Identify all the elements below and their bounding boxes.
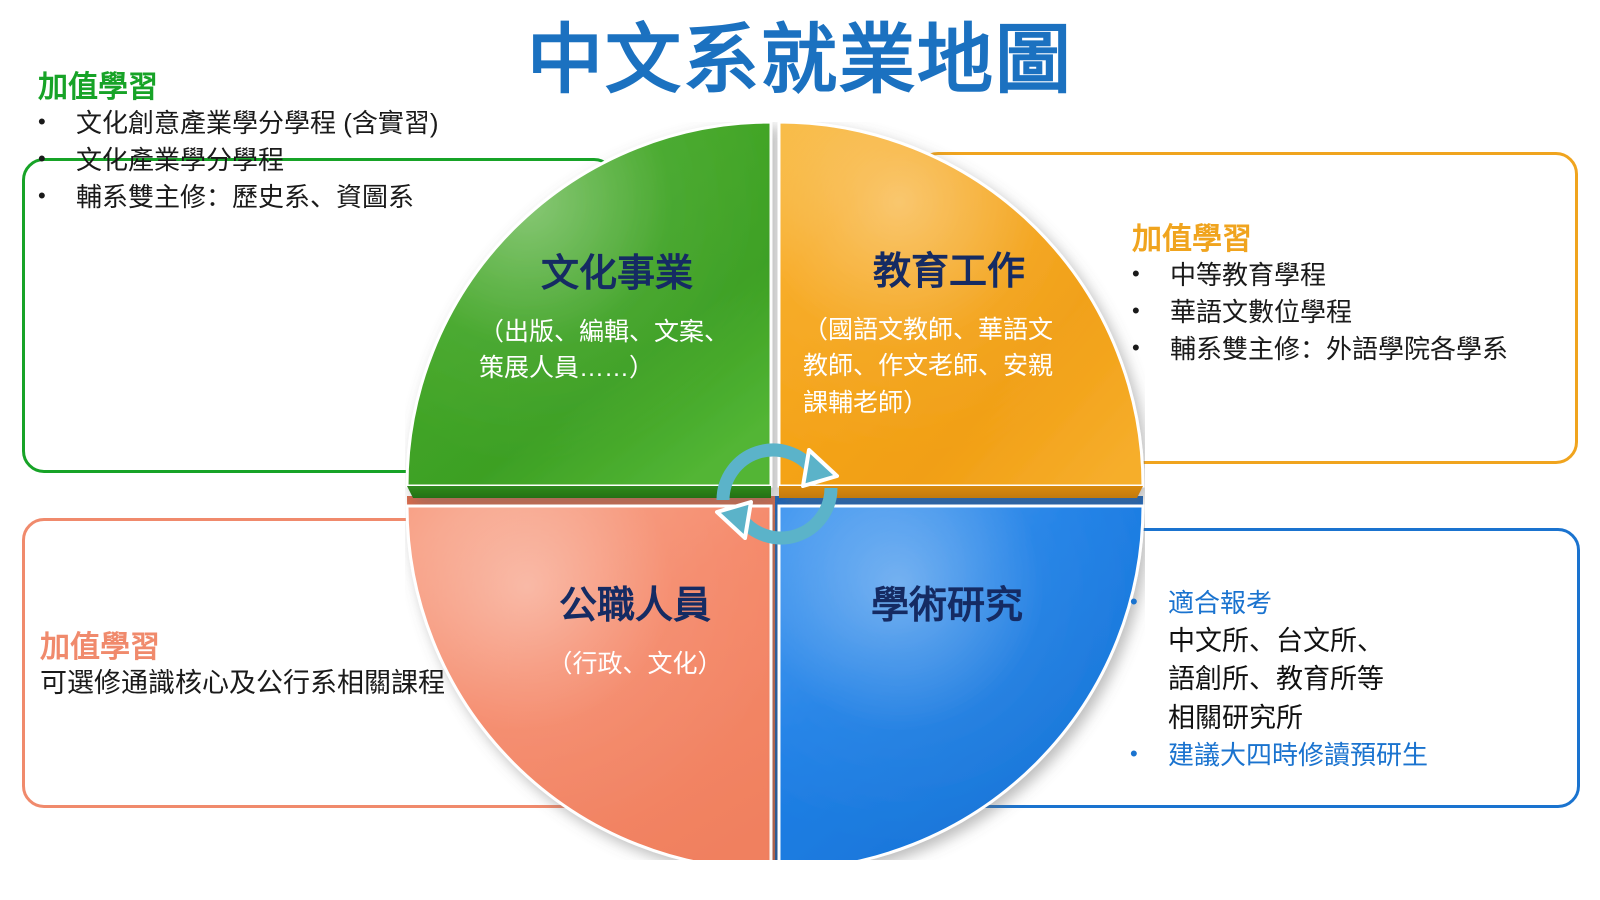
panel-top-left-heading: 加值學習 — [38, 70, 439, 105]
bullet-subline: 語創所、教育所等 — [1168, 660, 1428, 698]
panel-bottom-left-line: 可選修通識核心及公行系相關課程 — [40, 665, 445, 702]
bullet-item: • 文化產業學分學程 — [38, 142, 439, 179]
bullet-item: • 中等教育學程 — [1132, 257, 1508, 294]
bullet-dot-icon: • — [1132, 257, 1170, 292]
career-pie-chart: 文化事業 （出版、編輯、文案、 策展人員……） 教育工作 （國語文教師、華語文 … — [405, 122, 1145, 860]
panel-bottom-right-bullets: • 適合報考 中文所、台文所、 語創所、教育所等 相關研究所 • 建議大四時修讀… — [1130, 585, 1428, 774]
bullet-subline: 中文所、台文所、 — [1168, 622, 1428, 660]
bullet-dot-icon: • — [1130, 585, 1168, 620]
bullet-item: • 輔系雙主修：外語學院各學系 — [1132, 331, 1508, 368]
bullet-subline: 相關研究所 — [1168, 699, 1428, 737]
bullet-item: • 輔系雙主修：歷史系、資圖系 — [38, 179, 439, 216]
bullet-dot-icon: • — [1130, 737, 1168, 772]
panel-bottom-right-content: • 適合報考 中文所、台文所、 語創所、教育所等 相關研究所 • 建議大四時修讀… — [1130, 585, 1428, 774]
panel-top-right-bullets: • 中等教育學程 • 華語文數位學程 • 輔系雙主修：外語學院各學系 — [1132, 257, 1508, 368]
bullet-item: • 適合報考 中文所、台文所、 語創所、教育所等 相關研究所 — [1130, 585, 1428, 737]
infographic-canvas: 中文系就業地圖 — [0, 0, 1600, 900]
bullet-item: • 華語文數位學程 — [1132, 294, 1508, 331]
panel-top-left-bullets: • 文化創意產業學分學程 (含實習) • 文化產業學分學程 • 輔系雙主修：歷史… — [38, 105, 439, 216]
panel-bottom-left-content: 加值學習 可選修通識核心及公行系相關課程 — [40, 630, 445, 703]
panel-top-right-heading: 加值學習 — [1132, 222, 1508, 257]
bullet-highlight: 適合報考 — [1168, 588, 1272, 618]
panel-top-left-content: 加值學習 • 文化創意產業學分學程 (含實習) • 文化產業學分學程 • 輔系雙… — [38, 70, 439, 216]
bullet-item: • 文化創意產業學分學程 (含實習) — [38, 105, 439, 142]
bullet-highlight: 建議大四時修讀預研生 — [1168, 737, 1428, 774]
bullet-dot-icon: • — [38, 105, 76, 140]
circular-arrows-icon — [697, 422, 857, 566]
panel-top-right-content: 加值學習 • 中等教育學程 • 華語文數位學程 • 輔系雙主修：外語學院各學系 — [1132, 222, 1508, 368]
bullet-item: • 建議大四時修讀預研生 — [1130, 737, 1428, 774]
bullet-dot-icon: • — [38, 179, 76, 214]
bullet-dot-icon: • — [1132, 331, 1170, 366]
bullet-dot-icon: • — [1132, 294, 1170, 329]
panel-bottom-left-heading: 加值學習 — [40, 630, 445, 665]
bullet-dot-icon: • — [38, 142, 76, 177]
